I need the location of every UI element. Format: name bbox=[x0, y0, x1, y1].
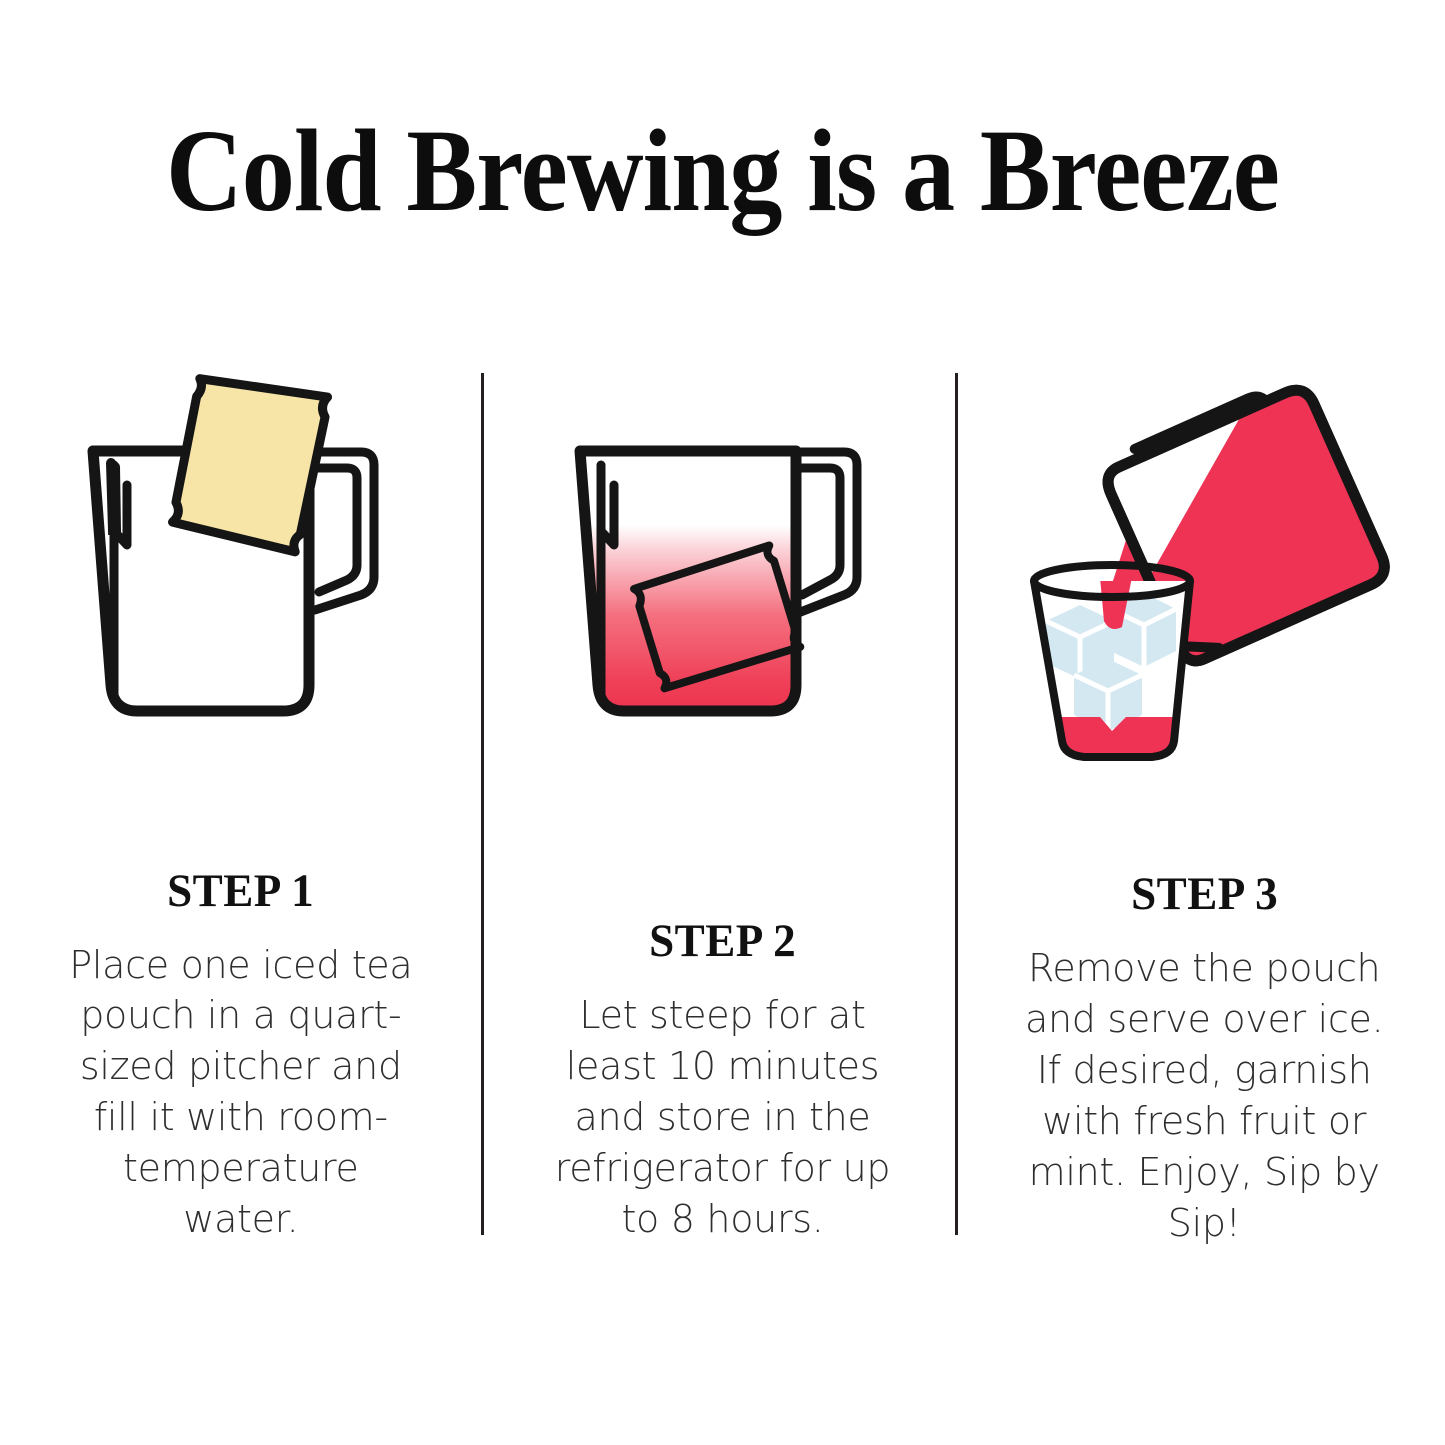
step-1-illustration-wrap bbox=[0, 355, 482, 772]
step-label-2: STEP 2 bbox=[649, 914, 796, 968]
pitcher-with-tea-pouch-icon bbox=[71, 355, 411, 755]
pouring-pitcher-into-iced-glass-icon bbox=[1004, 355, 1404, 775]
step-3-illustration-wrap bbox=[963, 355, 1445, 775]
step-column-1: STEP 1 Place one iced tea pouch in a qua… bbox=[0, 355, 482, 1245]
step-label-3: STEP 3 bbox=[1131, 867, 1278, 921]
step-body-3: Remove the pouch and serve over ice. If … bbox=[1018, 943, 1390, 1248]
infographic-poster: Cold Brewing is a Breeze bbox=[0, 0, 1445, 1445]
step-column-3: STEP 3 Remove the pouch and serve over i… bbox=[963, 355, 1445, 1245]
step-column-2: STEP 2 Let steep for at least 10 minutes… bbox=[482, 355, 964, 1245]
step-body-1: Place one iced tea pouch in a quart-size… bbox=[61, 940, 421, 1245]
page-title: Cold Brewing is a Breeze bbox=[72, 112, 1373, 230]
pitcher-steeping-red-tea-icon bbox=[558, 355, 888, 755]
step-body-2: Let steep for at least 10 minutes and st… bbox=[553, 990, 893, 1245]
step-label-1: STEP 1 bbox=[167, 864, 314, 918]
step-2-illustration-wrap bbox=[482, 355, 964, 822]
steps-container: STEP 1 Place one iced tea pouch in a qua… bbox=[0, 355, 1445, 1245]
